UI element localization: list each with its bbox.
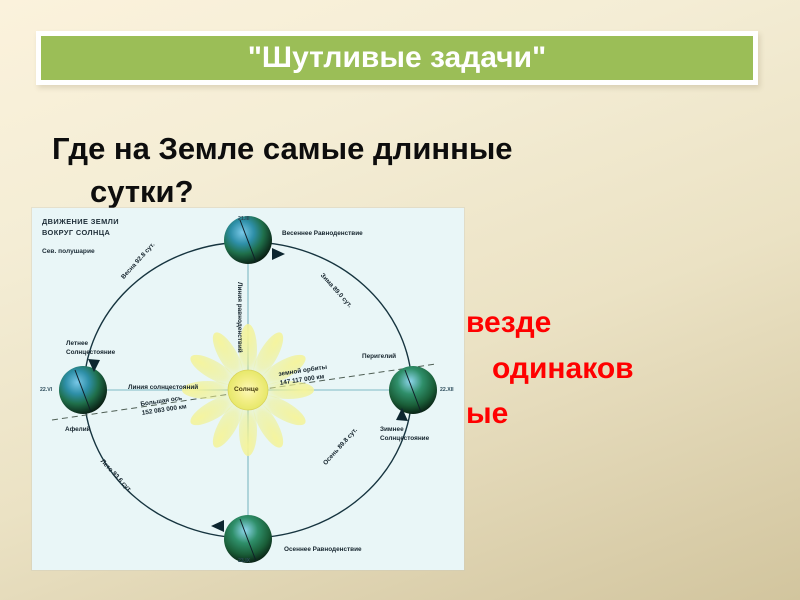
summer-solstice-date: 22.VI <box>40 387 52 394</box>
answer-line-3: ые <box>466 391 641 437</box>
winter-solstice-date: 22.XII <box>440 387 454 394</box>
earth-summer-solstice <box>59 366 107 414</box>
equinox-line-label: Линия равноденствий <box>234 282 243 353</box>
question-text: Где на Земле самые длинные сутки? <box>52 128 742 214</box>
answer-line-2: одинаков <box>466 346 641 392</box>
autumn-equinox-label: Осеннее Равноденствие <box>284 546 362 555</box>
answer-text: везде одинаков ые <box>466 300 641 437</box>
winter-solstice-line-2: Солнцестояние <box>380 435 429 444</box>
diagram-heading-line-1: ДВИЖЕНИЕ ЗЕМЛИ <box>42 216 119 227</box>
aphelion-label: Афелий <box>65 426 91 435</box>
question-line-1: Где на Земле самые длинные <box>52 131 513 166</box>
diagram-heading: ДВИЖЕНИЕ ЗЕМЛИ ВОКРУГ СОЛНЦА <box>42 216 119 238</box>
earth-orbit-diagram: ДВИЖЕНИЕ ЗЕМЛИ ВОКРУГ СОЛНЦА Сев. полуша… <box>32 208 464 570</box>
summer-solstice-label: Летнее Солнцестояние <box>66 340 115 357</box>
answer-line-1: везде <box>466 300 641 346</box>
summer-solstice-line-2: Солнцестояние <box>66 349 115 358</box>
diagram-heading-line-2: ВОКРУГ СОЛНЦА <box>42 227 119 238</box>
title-banner: "Шутливые задачи" <box>36 31 758 85</box>
page-title: "Шутливые задачи" <box>248 43 547 73</box>
spring-equinox-date: 21.III <box>238 216 250 223</box>
autumn-equinox-date: 23.IX <box>238 558 250 565</box>
winter-solstice-line-1: Зимнее <box>380 426 429 435</box>
winter-solstice-label: Зимнее Солнцестояние <box>380 426 429 443</box>
perihelion-label: Перигелий <box>362 353 396 362</box>
solstice-line-label: Линия солнцестояний <box>128 384 198 393</box>
summer-solstice-line-1: Летнее <box>66 340 115 349</box>
spring-equinox-label: Весеннее Равноденствие <box>282 230 363 239</box>
diagram-subheading: Сев. полушарие <box>42 248 95 255</box>
sun-label: Солнце <box>234 386 259 393</box>
slide-canvas: "Шутливые задачи" Где на Земле самые дли… <box>0 0 800 600</box>
earth-autumn-equinox <box>224 515 272 563</box>
earth-spring-equinox <box>224 216 272 264</box>
earth-winter-solstice <box>389 366 437 414</box>
